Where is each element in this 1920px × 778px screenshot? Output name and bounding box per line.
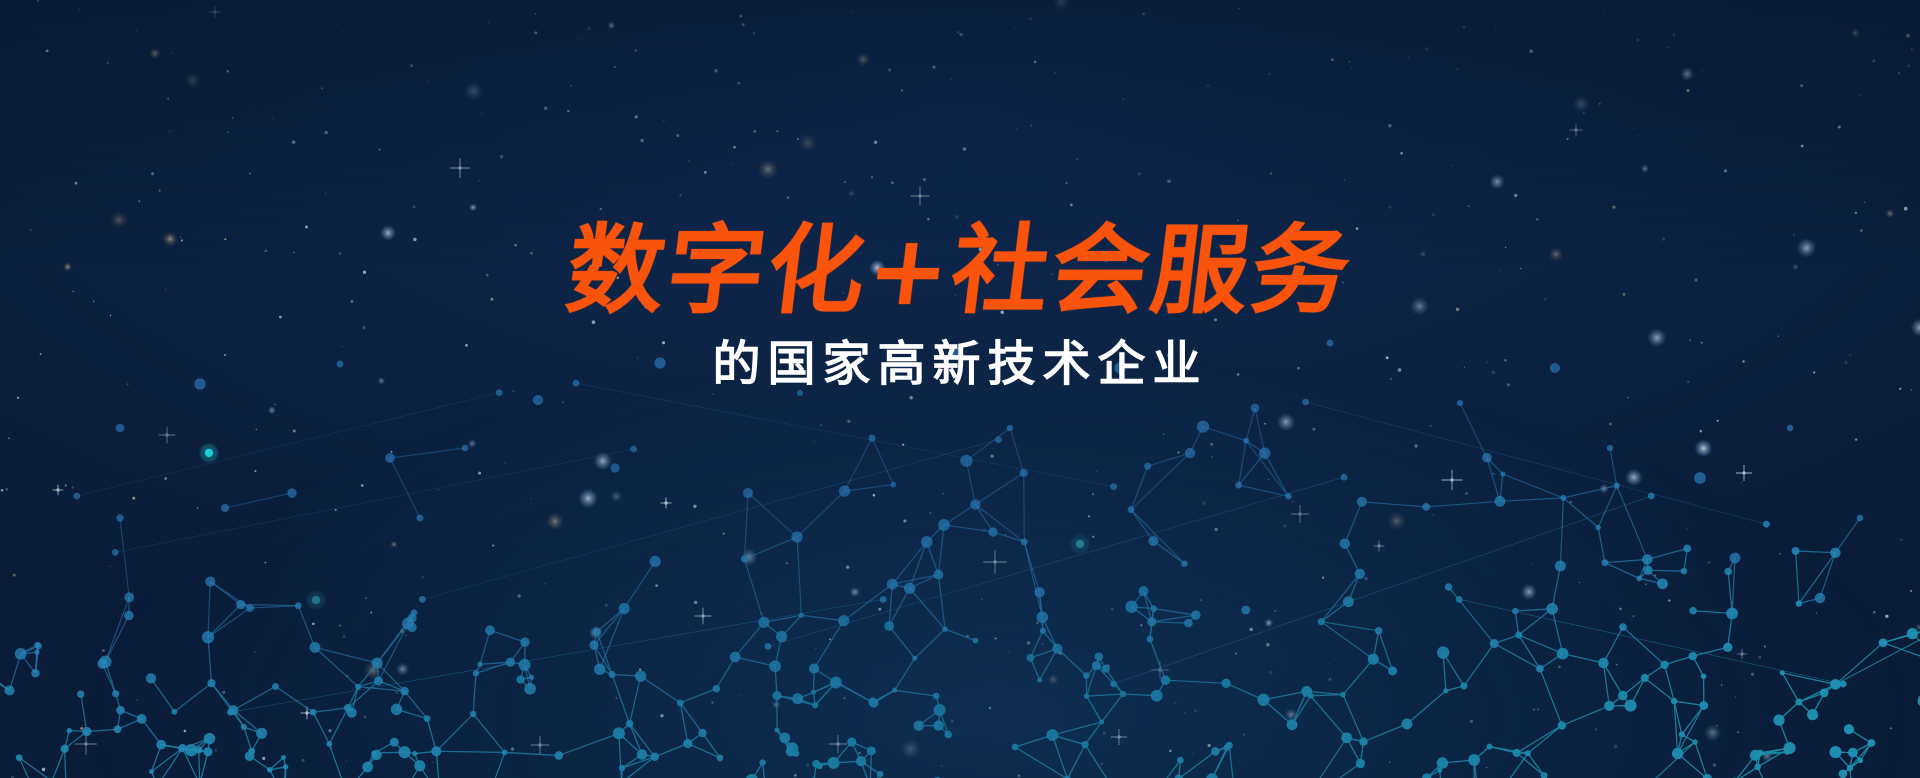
- hero-banner: 数字化+社会服务 的国家高新技术企业: [0, 0, 1920, 778]
- page-title: 数字化+社会服务: [0, 222, 1920, 319]
- page-subtitle: 的国家高新技术企业: [0, 340, 1920, 388]
